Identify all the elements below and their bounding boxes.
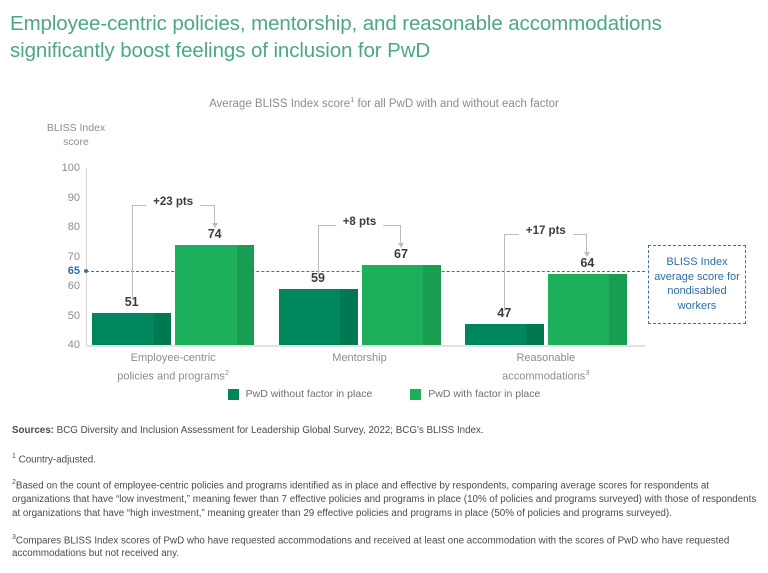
- legend-item-2[interactable]: PwD with factor in place: [410, 388, 540, 400]
- bar-1-without-factor[interactable]: [92, 313, 171, 345]
- y-axis-tick-50: 50: [40, 310, 80, 322]
- bar-2-without-factor[interactable]: [279, 289, 358, 345]
- y-axis-tick-100: 100: [40, 162, 80, 174]
- footnote-sources-label: Sources:: [12, 425, 54, 436]
- bar-1-with-factor[interactable]: [175, 245, 254, 345]
- bar-shade: [154, 313, 171, 345]
- footnote-1-text: Country-adjusted.: [16, 454, 96, 465]
- y-axis-ticks: 40506065708090100: [38, 110, 80, 410]
- footnotes: Sources: BCG Diversity and Inclusion Ass…: [12, 424, 760, 571]
- bar-shade: [237, 245, 254, 345]
- chart-subtitle-text-cont: for all PwD with and without each factor: [354, 98, 559, 110]
- chart-legend: PwD without factor in placePwD with fact…: [0, 388, 768, 400]
- footnote-1: 1 Country-adjusted.: [12, 450, 760, 467]
- bracket-right-leg: [586, 234, 587, 252]
- y-axis-tick-65: 65: [40, 265, 80, 277]
- bracket-arrow-icon: [398, 243, 404, 248]
- y-axis-tick-60: 60: [40, 280, 80, 292]
- delta-label: +23 pts: [146, 196, 200, 208]
- bracket-left-leg: [132, 205, 133, 300]
- category-footnote-marker: 2: [225, 368, 229, 377]
- bar-value-label: 74: [175, 227, 254, 241]
- bracket-left-leg: [504, 234, 505, 311]
- delta-label: +17 pts: [519, 225, 573, 237]
- reference-line-callout: BLISS Index average score for nondisable…: [648, 245, 746, 324]
- category-label-line2: accommodations3: [456, 366, 636, 384]
- chart-subtitle-text: Average BLISS Index score: [209, 98, 350, 110]
- footnote-2-text: Based on the count of employee-centric p…: [12, 481, 756, 519]
- y-axis-tick-40: 40: [40, 339, 80, 351]
- category-label-2: Mentorship: [270, 351, 450, 366]
- legend-item-1[interactable]: PwD without factor in place: [228, 388, 373, 400]
- bar-value-label: 67: [362, 247, 441, 261]
- delta-label: +8 pts: [336, 216, 384, 228]
- reference-line-marker: [84, 269, 88, 273]
- footnote-sources-text: BCG Diversity and Inclusion Assessment f…: [54, 425, 484, 436]
- category-label-line1: Mentorship: [270, 351, 450, 366]
- bar-value-label: 64: [548, 256, 627, 270]
- bracket-right-leg: [400, 225, 401, 243]
- chart-subtitle: Average BLISS Index score1 for all PwD w…: [0, 95, 768, 110]
- y-axis-tick-80: 80: [40, 221, 80, 233]
- category-label-line2: policies and programs2: [83, 366, 263, 384]
- footnote-2: 2Based on the count of employee-centric …: [12, 476, 760, 520]
- y-axis-tick-70: 70: [40, 251, 80, 263]
- category-label-1: Employee-centricpolicies and programs2: [83, 351, 263, 384]
- footnote-3-text: Compares BLISS Index scores of PwD who h…: [12, 535, 729, 560]
- bracket-arrow-icon: [212, 223, 218, 228]
- category-footnote-marker: 3: [585, 368, 589, 377]
- category-label-line1: Reasonable: [456, 351, 636, 366]
- bar-shade: [423, 265, 440, 345]
- legend-swatch-icon: [228, 389, 239, 400]
- footnote-3: 3Compares BLISS Index scores of PwD who …: [12, 531, 760, 561]
- legend-swatch-icon: [410, 389, 421, 400]
- bar-shade: [340, 289, 357, 345]
- bar-3-without-factor[interactable]: [465, 324, 544, 345]
- legend-label: PwD without factor in place: [246, 388, 373, 400]
- y-axis-tick-90: 90: [40, 192, 80, 204]
- bar-chart: BLISS Index score 40506065708090100 5174…: [0, 110, 768, 410]
- bar-shade: [526, 324, 543, 345]
- category-label-line1: Employee-centric: [83, 351, 263, 366]
- y-axis-line: [86, 168, 87, 346]
- bar-3-with-factor[interactable]: [548, 274, 627, 345]
- legend-label: PwD with factor in place: [428, 388, 540, 400]
- bracket-arrow-icon: [584, 252, 590, 257]
- bar-2-with-factor[interactable]: [362, 265, 441, 345]
- bracket-right-leg: [214, 205, 215, 223]
- page-title: Employee-centric policies, mentorship, a…: [10, 10, 758, 64]
- bar-shade: [609, 274, 626, 345]
- category-label-3: Reasonableaccommodations3: [456, 351, 636, 384]
- x-axis-line: [86, 345, 645, 347]
- footnote-sources: Sources: BCG Diversity and Inclusion Ass…: [12, 424, 760, 438]
- bracket-left-leg: [318, 225, 319, 276]
